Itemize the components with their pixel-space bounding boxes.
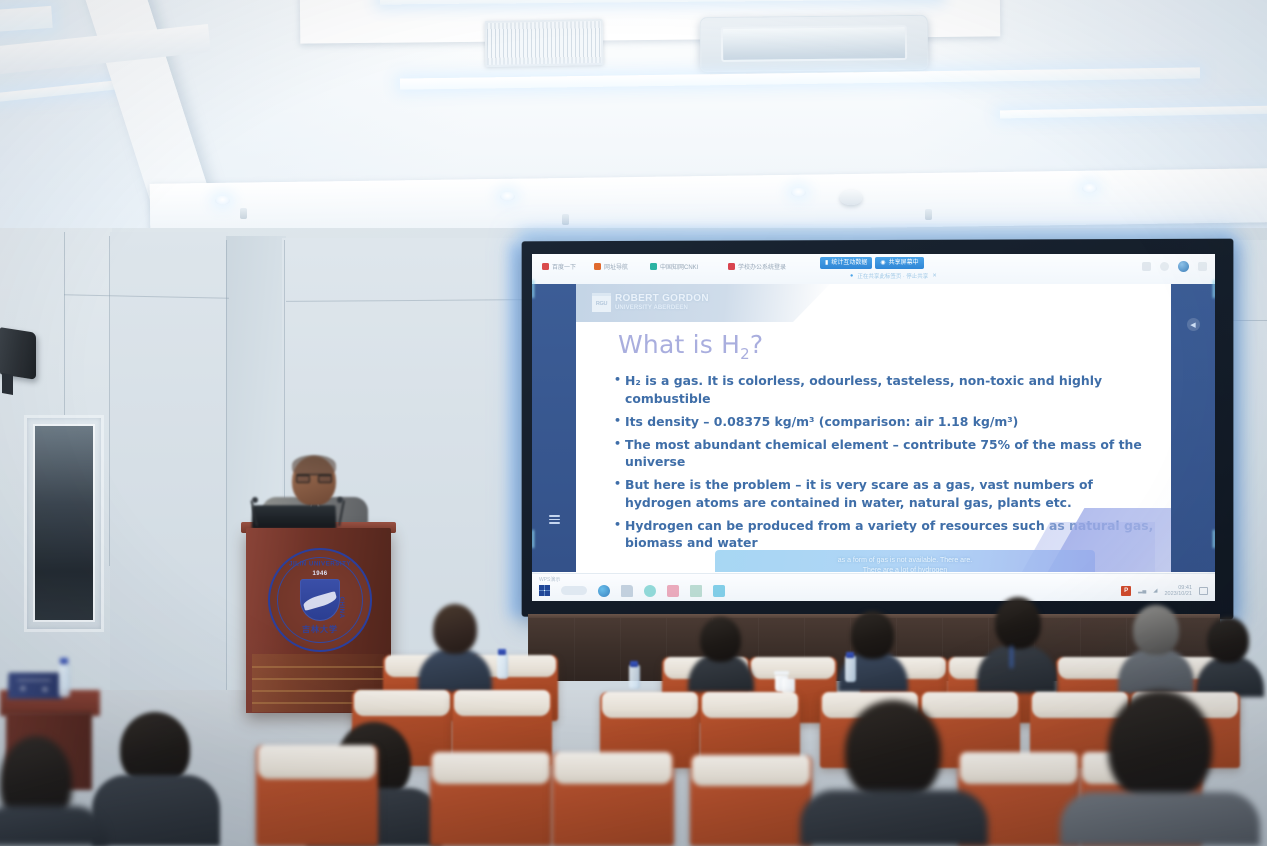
audience-shoulders-front: [800, 790, 988, 846]
note-icon[interactable]: [713, 585, 725, 597]
emblem-inner-ring: 1946 吉林大学 JILIN UNIVERSITY CHINA: [277, 557, 363, 643]
slide-title: What is H2?: [618, 330, 763, 363]
bookmark-favicon: [728, 263, 735, 270]
slide-nav-panel-left[interactable]: [532, 284, 576, 572]
water-bottle-cap-desk: [60, 658, 68, 664]
ceiling: [0, 0, 1267, 232]
sprinkler-1: [240, 208, 247, 219]
sprinkler-3: [925, 209, 932, 220]
slide-title-suffix: ?: [750, 330, 763, 359]
glasses-lens-left: [296, 475, 310, 483]
live-caption-overlay: as a form of gas is not available. There…: [715, 550, 1095, 572]
wall-speaker: [0, 327, 36, 380]
podium-emblem: 1946 吉林大学 JILIN UNIVERSITY CHINA: [268, 548, 372, 652]
downlight-3: [791, 188, 806, 197]
seat: [430, 752, 552, 846]
water-bottle-row: [497, 653, 508, 679]
globe-icon[interactable]: [1178, 261, 1189, 272]
audience-head: [1207, 617, 1249, 663]
downlight-1: [215, 196, 230, 205]
audience-head: [1133, 605, 1179, 655]
bookmark-item-2[interactable]: 中国知网CNKI: [650, 262, 698, 271]
share-pill-label: 共享屏幕中: [889, 257, 919, 269]
screen-display-surface[interactable]: 百度一下 网址导航 中国知网CNKI 学校办公系统登录 ▮: [532, 254, 1215, 601]
bookmark-item-3[interactable]: 学校办公系统登录: [728, 262, 786, 271]
taskbar-clock[interactable]: 09:41 2023/10/21: [1164, 585, 1192, 597]
seat: [690, 755, 812, 846]
water-bottle-desk: [59, 663, 70, 697]
profile-icon[interactable]: [1160, 262, 1169, 271]
volume-icon[interactable]: ◢: [1153, 588, 1157, 594]
lecture-hall-scene: 百度一下 网址导航 中国知网CNKI 学校办公系统登录 ▮: [0, 0, 1267, 846]
downlight-4: [1082, 184, 1097, 193]
screen-glow-edge-right2: [1213, 530, 1215, 548]
desk-name-card: ❋ ❋: [8, 673, 63, 699]
share-dot-icon: ●: [850, 273, 853, 279]
taskbar-app-label: WPS演示: [539, 576, 560, 583]
audience-shoulders-front: [1060, 792, 1260, 846]
slide-bullet: The most abundant chemical element – con…: [614, 436, 1154, 471]
slide-bullet: H₂ is a gas. It is colorless, odourless,…: [614, 372, 1154, 407]
close-icon[interactable]: ✕: [932, 273, 937, 279]
rgu-logo-line2: UNIVERSITY ABERDEEN: [615, 305, 709, 311]
seat: [552, 752, 674, 846]
chevron-left-icon[interactable]: ◀: [1187, 318, 1200, 331]
emblem-ring-text: JILIN UNIVERSITY CHINA: [278, 558, 362, 642]
wall-panel-left-b: [110, 232, 228, 710]
list-menu-icon[interactable]: [549, 515, 560, 524]
stats-pill-button[interactable]: ▮ 统计互动数据: [820, 257, 872, 269]
screen-share-pill-button[interactable]: ◉ 共享屏幕中: [875, 257, 923, 269]
rgu-university-logo: RGU ROBERT GORDON UNIVERSITY ABERDEEN: [592, 293, 709, 312]
audience-head-front: [1108, 690, 1212, 802]
sharing-notice-bar[interactable]: ● 正在共享此标签页 · 停止共享 ✕: [850, 272, 937, 280]
smoke-detector: [840, 190, 862, 205]
bookmark-favicon: [542, 263, 549, 270]
bar-chart-icon: ▮: [825, 257, 828, 269]
extensions-icon[interactable]: [1142, 262, 1151, 271]
chat-icon[interactable]: [644, 585, 656, 597]
caption-english-line1: as a form of gas is not available. There…: [725, 556, 1085, 565]
speaker-glasses: [296, 474, 332, 482]
ceiling-ac-unit: [700, 15, 929, 72]
windows-taskbar[interactable]: WPS演示 P ▂▄ ◢ 09:41 2: [532, 573, 1215, 601]
screen-glow-edge-right: [1213, 280, 1215, 298]
glasses-lens-right: [318, 475, 332, 483]
caption-english-line2: There are a lot of hydrogen: [725, 566, 1085, 572]
wall-window-glass: [33, 424, 95, 622]
edge-browser-icon[interactable]: [598, 585, 610, 597]
audience-shoulders-front: [0, 806, 108, 846]
water-bottle-row: [629, 665, 640, 689]
folder-icon[interactable]: [621, 585, 633, 597]
notification-icon[interactable]: [1199, 587, 1208, 595]
slide-bullet: Its density – 0.08375 kg/m³ (comparison:…: [614, 413, 1154, 431]
audience-head: [433, 604, 477, 654]
slide-title-prefix: What is H: [618, 330, 740, 359]
mail-icon[interactable]: [690, 585, 702, 597]
rgu-logo-line1: ROBERT GORDON: [615, 294, 709, 304]
microphone-head-left: [252, 497, 258, 503]
bookmark-favicon: [650, 263, 657, 270]
sharing-notice-label: 正在共享此标签页 · 停止共享: [857, 272, 928, 280]
air-vent-grille: [485, 19, 604, 67]
taskbar-search-box[interactable]: [561, 586, 587, 595]
audience-head: [995, 597, 1041, 649]
projection-screen: 百度一下 网址导航 中国知网CNKI 学校办公系统登录 ▮: [519, 240, 1231, 618]
audience-head: [700, 617, 741, 662]
clock-date: 2023/10/21: [1164, 591, 1192, 597]
screen-glow-edge-left2: [532, 530, 534, 548]
water-bottle-cap-row: [630, 661, 638, 667]
microphone-head-right: [337, 497, 343, 503]
ceiling-strip-light-left: [0, 6, 53, 32]
browser-right-controls[interactable]: [1142, 261, 1207, 272]
wall-seam-v2: [109, 236, 110, 566]
bookmark-label: 中国知网CNKI: [660, 262, 698, 271]
bookmark-label: 网址导航: [604, 262, 628, 271]
paper-cup-lid: [774, 671, 789, 675]
bookmark-label: 百度一下: [552, 262, 576, 271]
bookmark-item-0[interactable]: 百度一下: [542, 262, 576, 271]
rgu-badge-icon: RGU: [592, 293, 611, 312]
bookmark-item-1[interactable]: 网址导航: [594, 262, 628, 271]
network-icon[interactable]: ▂▄: [1138, 588, 1146, 594]
stats-pill-label: 统计互动数据: [831, 257, 867, 269]
slide-bullet: But here is the problem – it is very sca…: [614, 476, 1154, 511]
seat: [256, 745, 378, 846]
emblem-name-top: JILIN UNIVERSITY: [289, 561, 351, 568]
share-icon: ◉: [880, 257, 885, 269]
windows-start-icon[interactable]: [539, 585, 550, 596]
powerpoint-taskbar-badge[interactable]: P: [1121, 586, 1131, 596]
water-bottle-cap-row: [846, 652, 854, 658]
bookmark-favicon: [594, 263, 601, 270]
bookmark-label: 学校办公系统登录: [738, 262, 786, 271]
audience-head: [851, 611, 894, 659]
water-bottle-cap-row: [498, 649, 506, 655]
speaker-hair: [292, 455, 336, 475]
share-pill-group[interactable]: ▮ 统计互动数据 ◉ 共享屏幕中: [820, 257, 924, 269]
presentation-slide[interactable]: RGU ROBERT GORDON UNIVERSITY ABERDEEN Wh…: [532, 284, 1215, 572]
wps-icon[interactable]: [667, 585, 679, 597]
audience-shoulders: [92, 775, 220, 846]
browser-toolbar[interactable]: 百度一下 网址导航 中国知网CNKI 学校办公系统登录 ▮: [532, 254, 1215, 284]
water-bottle-row: [845, 656, 856, 682]
audience-shoulders: [977, 645, 1057, 693]
audience-head-front: [845, 700, 941, 802]
downlight-2: [500, 192, 515, 201]
emblem-name-bottom: CHINA: [338, 597, 345, 619]
podium-laptop: [252, 505, 337, 529]
slide-title-subscript: 2: [740, 345, 750, 363]
slide-nav-panel-right[interactable]: ◀: [1171, 284, 1215, 572]
menu-icon[interactable]: [1198, 262, 1207, 271]
audience-lanyard: [1010, 646, 1013, 668]
wall-seam-v3: [226, 240, 227, 700]
sprinkler-2: [562, 214, 569, 225]
wall-speaker-mount: [2, 373, 13, 395]
screen-glow-edge-left: [532, 280, 534, 298]
